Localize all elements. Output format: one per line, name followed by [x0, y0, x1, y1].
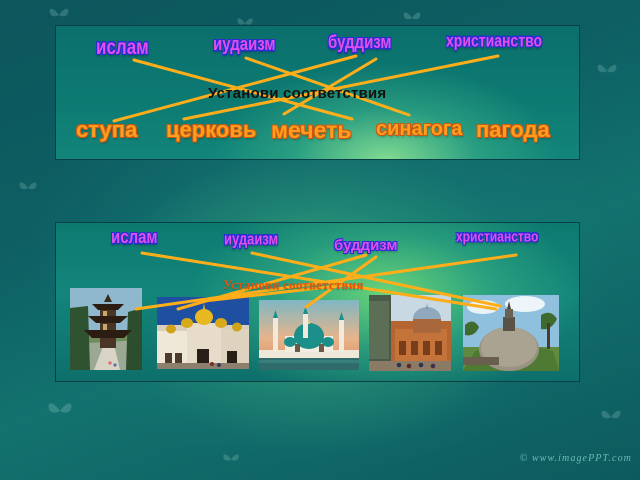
word-religion-islam[interactable]: ислам — [96, 35, 149, 60]
word-religion-buddhism[interactable]: буддизм — [328, 32, 391, 53]
pagoda-photo[interactable] — [70, 288, 142, 370]
instruction-text-images: Установи соответствия — [223, 277, 364, 293]
image-religion-judaism[interactable]: иудаизм — [224, 229, 278, 248]
word-place-church[interactable]: церковь — [166, 117, 256, 143]
word-place-mosque[interactable]: мечеть — [271, 117, 351, 144]
orthodox-church-photo[interactable] — [157, 297, 249, 369]
instruction-text-words: Установи соответствия — [208, 85, 386, 102]
matching-panel-images: ислам иудаизм буддизм христианство — [55, 222, 580, 382]
word-place-pagoda[interactable]: пагода — [476, 117, 550, 143]
butterfly-icon — [600, 408, 622, 426]
butterfly-icon — [222, 452, 240, 467]
word-place-synagogue[interactable]: синагога — [376, 118, 462, 141]
butterfly-icon — [18, 180, 38, 196]
word-religion-christianity[interactable]: христианство — [446, 30, 542, 50]
matching-panel-words: ислам иудаизм буддизм христианство ступа… — [55, 25, 580, 160]
mosque-photo[interactable] — [259, 300, 359, 370]
image-religion-buddhism[interactable]: буддизм — [334, 237, 397, 254]
watermark-text: © www.imagePPT.com — [520, 453, 632, 464]
image-religion-islam[interactable]: ислам — [111, 227, 158, 248]
word-religion-judaism[interactable]: иудаизм — [213, 34, 275, 55]
butterfly-icon — [46, 400, 74, 422]
butterfly-icon — [48, 6, 70, 24]
butterfly-icon — [596, 62, 618, 80]
butterfly-icon — [402, 10, 422, 26]
image-religion-christianity[interactable]: христианство — [456, 228, 538, 246]
synagogue-photo[interactable] — [369, 295, 451, 371]
word-place-stupa[interactable]: ступа — [76, 117, 137, 143]
stupa-photo[interactable] — [463, 295, 559, 371]
slide-canvas: ислам иудаизм буддизм христианство ступа… — [0, 0, 640, 480]
